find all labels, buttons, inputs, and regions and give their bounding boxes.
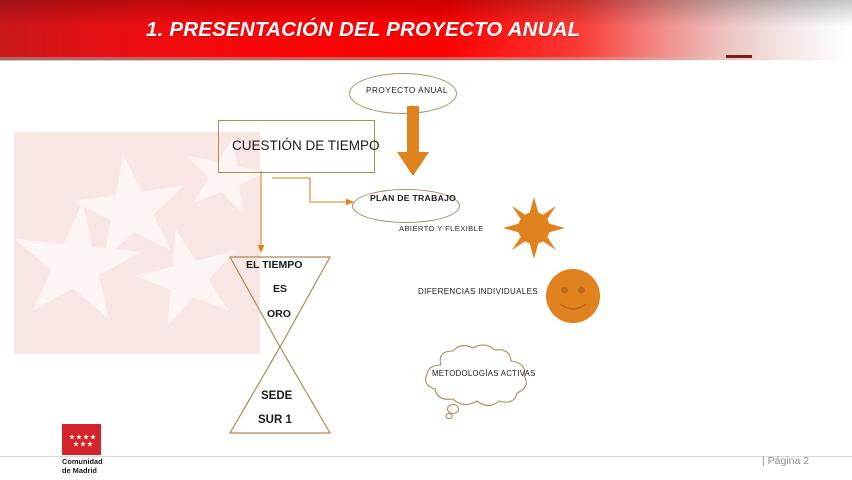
plan-de-trabajo-label: PLAN DE TRABAJO (370, 193, 456, 203)
header-bottom-edge (0, 57, 852, 61)
abierto-y-flexible-label: ABIERTO Y FLEXIBLE (399, 224, 484, 233)
hourglass-text-es: ES (273, 283, 287, 295)
presentation-slide: 1. PRESENTACIÓN DEL PROYECTO ANUAL PROYE… (0, 0, 852, 480)
diferencias-individuales-label: DIFERENCIAS INDIVIDUALES (418, 287, 538, 296)
down-arrow-icon (396, 106, 430, 178)
cuestion-de-tiempo-label: CUESTIÓN DE TIEMPO (232, 138, 380, 153)
page-title: 1. PRESENTACIÓN DEL PROYECTO ANUAL (146, 18, 580, 42)
logo-text: Comunidad de Madrid (62, 457, 103, 475)
header-accent-tick (726, 55, 752, 58)
thought-cloud-icon (411, 343, 535, 421)
footer-divider (0, 456, 852, 457)
logo-text-line2: de Madrid (62, 466, 103, 475)
hourglass-text-oro: ORO (267, 308, 291, 320)
metodologias-activas-label: METODOLOGÍAS ACTIVAS (432, 369, 536, 378)
smiley-face-icon (545, 268, 601, 324)
hourglass-text-sur-1: SUR 1 (258, 414, 292, 426)
logo-text-line1: Comunidad (62, 457, 103, 466)
hourglass-text-el-tiempo: EL TIEMPO (246, 259, 302, 271)
hourglass-shape (228, 255, 332, 435)
comunidad-de-madrid-logo: Comunidad de Madrid (62, 424, 118, 476)
hourglass-text-sede: SEDE (261, 390, 292, 402)
page-number-label: | Página 2 (762, 455, 809, 467)
sun-icon (503, 197, 565, 259)
proyecto-anual-label: PROYECTO ANUAL (366, 86, 448, 95)
logo-stars-emblem (62, 424, 101, 455)
